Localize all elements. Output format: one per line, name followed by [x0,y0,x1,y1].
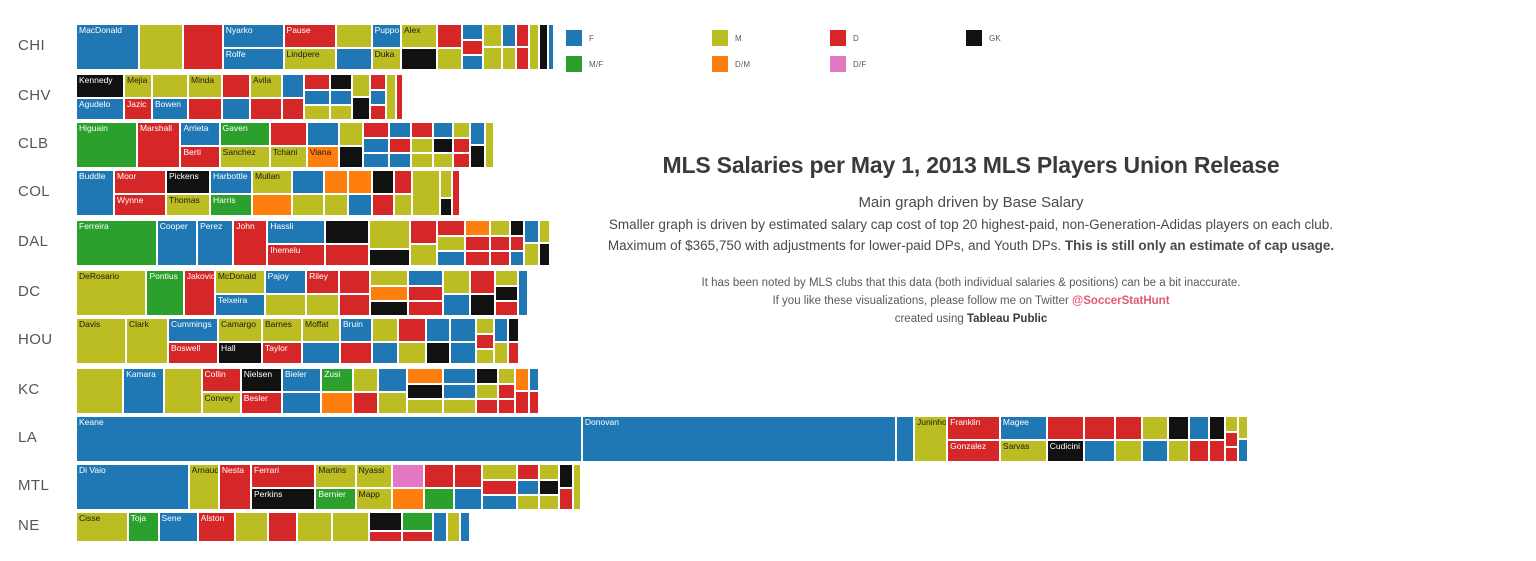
player-cell[interactable] [353,368,379,392]
player-cell[interactable] [1168,416,1189,440]
player-cell[interactable] [517,464,539,480]
player-cell[interactable] [494,342,508,364]
player-cell[interactable] [183,24,223,70]
player-cell[interactable] [411,153,433,168]
player-cell-rolfe[interactable]: Rolfe [223,48,284,70]
player-cell-gaven[interactable]: Gaven [220,122,270,146]
player-cell[interactable] [411,122,433,138]
player-cell[interactable] [336,24,372,48]
player-cell[interactable] [411,138,433,153]
player-cell-sanchez[interactable]: Sanchez [220,146,270,168]
player-cell[interactable] [330,90,352,105]
player-cell[interactable] [1209,440,1225,462]
player-cell[interactable] [454,488,482,510]
player-cell[interactable] [470,294,495,316]
player-cell[interactable] [508,318,519,342]
player-cell-juninho[interactable]: Juninho [914,416,947,462]
player-cell[interactable] [470,270,495,294]
player-cell[interactable] [529,368,539,391]
player-cell[interactable] [433,153,453,168]
player-cell[interactable] [339,294,370,316]
player-cell-viana[interactable]: Viana [307,146,340,168]
player-cell[interactable] [363,122,389,138]
legend-item-f[interactable]: F [566,27,696,49]
player-cell-mullan[interactable]: Mullan [252,170,292,194]
player-cell[interactable] [524,243,539,266]
player-cell-sarvas[interactable]: Sarvas [1000,440,1047,462]
player-cell[interactable] [485,122,494,168]
player-cell[interactable] [510,220,525,236]
player-cell-avila[interactable]: Avila [250,74,282,98]
player-cell[interactable] [476,318,494,334]
player-cell[interactable] [517,480,539,495]
player-cell[interactable] [407,399,442,414]
player-cell[interactable] [465,236,491,251]
player-cell[interactable] [494,318,508,342]
player-cell-berti[interactable]: Berti [180,146,219,168]
player-cell-cummings[interactable]: Cummings [168,318,218,342]
player-cell[interactable] [424,464,454,488]
player-cell[interactable] [370,301,407,316]
player-cell[interactable] [1189,440,1209,462]
player-cell-arnaud[interactable]: Arnaud [189,464,219,510]
player-cell-nyarko[interactable]: Nyarko [223,24,284,48]
player-cell-harris[interactable]: Harris [210,194,252,216]
player-cell[interactable] [1168,440,1189,462]
player-cell[interactable] [508,342,519,364]
player-cell[interactable] [188,98,222,120]
player-cell[interactable] [372,318,398,342]
player-cell-bernier[interactable]: Bernier [315,488,355,510]
player-cell[interactable] [1115,440,1142,462]
player-cell-perkins[interactable]: Perkins [251,488,315,510]
player-cell[interactable] [339,122,363,146]
player-cell-di-vaio[interactable]: Di Vaio [76,464,189,510]
player-cell-sene[interactable]: Sene [159,512,198,542]
player-cell-kennedy[interactable]: Kennedy [76,74,124,98]
player-cell[interactable] [490,236,509,251]
player-cell[interactable] [332,512,369,542]
player-cell[interactable] [539,495,559,510]
player-cell[interactable] [433,512,447,542]
player-cell-tchani[interactable]: Tchani [270,146,307,168]
player-cell[interactable] [510,236,525,251]
player-cell[interactable] [490,220,509,236]
player-cell[interactable] [340,342,372,364]
player-cell[interactable] [510,251,525,266]
twitter-handle-link[interactable]: @SoccerStatHunt [1072,295,1169,307]
player-cell[interactable] [524,220,539,243]
player-cell[interactable] [324,194,348,216]
player-cell[interactable] [443,384,476,399]
player-cell[interactable] [369,220,409,249]
player-cell-donovan[interactable]: Donovan [582,416,896,462]
player-cell[interactable] [482,464,516,480]
player-cell-arrieta[interactable]: Arrieta [180,122,219,146]
player-cell[interactable] [454,464,482,488]
player-cell[interactable] [394,194,412,216]
player-cell-mejia[interactable]: Mejia [124,74,152,98]
player-cell[interactable] [465,251,491,266]
player-cell[interactable] [433,122,453,138]
player-cell[interactable] [516,47,529,70]
player-cell[interactable] [297,512,332,542]
player-cell[interactable] [495,270,518,286]
player-cell-cooper[interactable]: Cooper [157,220,197,266]
player-cell[interactable] [325,244,370,266]
player-cell[interactable] [292,194,324,216]
player-cell[interactable] [407,368,442,384]
player-cell[interactable] [306,294,339,316]
player-cell[interactable] [353,392,379,414]
player-cell[interactable] [370,270,407,286]
player-cell[interactable] [348,194,372,216]
player-cell-ihemelu[interactable]: Ihemelu [267,244,324,266]
player-cell[interactable] [437,236,465,251]
player-cell[interactable] [235,512,268,542]
player-cell[interactable] [452,170,460,216]
player-cell[interactable] [517,495,539,510]
player-cell[interactable] [402,531,433,542]
player-cell[interactable] [252,194,292,216]
player-cell-nyassi[interactable]: Nyassi [356,464,392,488]
player-cell-alston[interactable]: Alston [198,512,235,542]
player-cell-mapp[interactable]: Mapp [356,488,392,510]
player-cell[interactable] [307,122,340,146]
player-cell[interactable] [398,342,426,364]
player-cell[interactable] [348,170,372,194]
player-cell[interactable] [443,368,476,384]
player-cell[interactable] [222,74,250,98]
player-cell-lindpere[interactable]: Lindpere [284,48,336,70]
player-cell[interactable] [450,342,476,364]
player-cell-marshall[interactable]: Marshall [137,122,181,168]
player-cell[interactable] [389,122,411,138]
player-cell-boswell[interactable]: Boswell [168,342,218,364]
player-cell[interactable] [330,105,352,120]
player-cell[interactable] [462,24,483,40]
player-cell[interactable] [1115,416,1142,440]
player-cell[interactable] [447,512,459,542]
player-cell[interactable] [152,74,188,98]
player-cell[interactable] [424,488,454,510]
player-cell[interactable] [304,105,330,120]
player-cell[interactable] [378,392,407,414]
player-cell-macdonald[interactable]: MacDonald [76,24,139,70]
player-cell[interactable] [426,318,450,342]
player-cell[interactable] [408,270,443,286]
player-cell[interactable] [437,24,462,48]
legend-item-d-m[interactable]: D/M [712,53,842,75]
player-cell[interactable] [402,512,433,531]
player-cell[interactable] [539,220,550,243]
player-cell-kamara[interactable]: Kamara [123,368,164,414]
player-cell[interactable] [330,74,352,90]
player-group [485,122,494,168]
player-cell[interactable] [462,40,483,55]
player-cell-martins[interactable]: Martins [315,464,355,488]
player-cell-bowen[interactable]: Bowen [152,98,188,120]
player-cell[interactable] [539,243,550,266]
player-cell[interactable] [529,24,539,70]
player-cell[interactable] [437,48,462,70]
player-cell[interactable] [76,368,123,414]
player-cell[interactable] [443,399,476,414]
player-cell[interactable] [325,220,370,244]
player-cell[interactable] [502,47,517,70]
player-cell[interactable] [396,74,403,120]
player-cell[interactable] [559,488,573,510]
player-cell[interactable] [460,512,470,542]
player-cell[interactable] [462,55,483,70]
player-cell-minda[interactable]: Minda [188,74,222,98]
player-cell[interactable] [559,464,573,488]
player-cell-collin[interactable]: Collin [202,368,241,392]
team-row-mtl: Di VaioArnaudNestaFerrariPerkinsMartinsB… [76,464,581,510]
player-cell-magee[interactable]: Magee [1000,416,1047,440]
player-cell[interactable] [372,194,394,216]
player-cell[interactable] [398,318,426,342]
player-cell[interactable] [1189,416,1209,440]
player-cell[interactable] [268,512,297,542]
player-cell-moor[interactable]: Moor [114,170,166,194]
player-cell[interactable] [453,122,470,138]
player-cell[interactable] [539,480,559,495]
player-cell-thomas[interactable]: Thomas [166,194,210,216]
player-cell[interactable] [470,122,485,145]
player-cell-agudelo[interactable]: Agudelo [76,98,124,120]
player-cell[interactable] [392,464,424,488]
player-cell[interactable] [437,220,465,236]
player-cell-pajoy[interactable]: Pajoy [265,270,306,294]
legend-item-m[interactable]: M [712,27,842,49]
player-cell[interactable] [443,294,470,316]
player-cell[interactable] [1142,416,1167,440]
player-cell-harbottle[interactable]: Harbottle [210,170,252,194]
player-cell[interactable] [1225,447,1239,462]
player-cell-zusi[interactable]: Zusi [321,368,352,392]
player-cell-taylor[interactable]: Taylor [262,342,302,364]
player-cell[interactable] [529,391,539,414]
player-cell[interactable] [495,286,518,301]
player-cell-camargo[interactable]: Camargo [218,318,262,342]
player-cell[interactable] [363,138,389,153]
player-cell[interactable] [476,349,494,364]
player-cell-toja[interactable]: Toja [128,512,159,542]
player-cell[interactable] [518,270,528,316]
player-cell[interactable] [363,153,389,168]
player-cell[interactable] [304,90,330,105]
player-cell[interactable] [482,495,516,510]
player-cell[interactable] [392,488,424,510]
player-cell[interactable] [440,198,452,216]
player-cell[interactable] [490,251,509,266]
player-cell[interactable] [1225,432,1239,447]
player-cell[interactable] [410,244,438,266]
player-cell-convey[interactable]: Convey [202,392,241,414]
player-cell-besler[interactable]: Besler [241,392,282,414]
player-cell[interactable] [1084,416,1115,440]
player-cell-nielsen[interactable]: Nielsen [241,368,282,392]
player-cell[interactable] [1238,439,1248,462]
player-cell-teixeira[interactable]: Teixeira [215,294,265,316]
player-cell[interactable] [539,24,547,70]
player-cell[interactable] [369,249,409,266]
player-cell-pickens[interactable]: Pickens [166,170,210,194]
player-cell[interactable] [426,342,450,364]
player-cell-wynne[interactable]: Wynne [114,194,166,216]
player-cell-nesta[interactable]: Nesta [219,464,251,510]
legend-item-d[interactable]: D [830,27,960,49]
player-cell-cudicini[interactable]: Cudicini [1047,440,1084,462]
player-cell[interactable] [282,74,304,98]
player-cell[interactable] [476,334,494,349]
player-cell[interactable] [412,170,440,216]
player-cell[interactable] [573,464,581,510]
player-cell[interactable] [370,90,386,105]
player-cell[interactable] [1084,440,1115,462]
player-cell-gonzalez[interactable]: Gonzalez [947,440,1000,462]
player-cell[interactable] [498,384,516,399]
player-cell[interactable] [443,270,470,294]
player-cell-ferreira[interactable]: Ferreira [76,220,157,266]
player-cell-buddle[interactable]: Buddle [76,170,114,216]
player-cell[interactable] [336,48,372,70]
player-cell-hall[interactable]: Hall [218,342,262,364]
player-cell[interactable] [339,146,363,168]
player-cell[interactable] [453,138,470,153]
player-cell[interactable] [282,98,304,120]
player-cell[interactable] [515,391,529,414]
player-cell[interactable] [370,74,386,90]
legend-item-m-f[interactable]: M/F [566,53,696,75]
player-cell-alex[interactable]: Alex [401,24,437,48]
player-cell[interactable] [453,153,470,168]
player-cell[interactable] [515,368,529,391]
player-cell-bieler[interactable]: Bieler [282,368,321,392]
player-cell[interactable] [352,97,370,120]
player-cell[interactable] [250,98,282,120]
player-cell[interactable] [483,24,502,47]
player-name: Pause [287,25,311,36]
player-cell[interactable] [372,170,394,194]
player-cell[interactable] [339,270,370,294]
player-cell[interactable] [401,48,437,70]
player-cell-perez[interactable]: Perez [197,220,233,266]
player-cell[interactable] [450,318,476,342]
player-cell[interactable] [389,138,411,153]
player-cell[interactable] [370,286,407,301]
player-cell-barnes[interactable]: Barnes [262,318,302,342]
player-cell[interactable] [1238,416,1248,439]
player-cell-john[interactable]: John [233,220,267,266]
player-cell[interactable] [407,384,442,399]
player-cell[interactable] [369,531,402,542]
player-cell[interactable] [465,220,491,236]
player-cell[interactable] [292,170,324,194]
player-cell[interactable] [265,294,306,316]
player-cell-ferrari[interactable]: Ferrari [251,464,315,488]
player-cell-bruin[interactable]: Bruin [340,318,372,342]
player-cell[interactable] [1142,440,1167,462]
player-cell[interactable] [164,368,201,414]
player-cell[interactable] [433,138,453,153]
player-cell[interactable] [495,301,518,316]
player-cell[interactable] [394,170,412,194]
player-group: Arnaud [189,464,219,510]
player-cell-davis[interactable]: Davis [76,318,126,364]
player-cell-moffat[interactable]: Moffat [302,318,340,342]
player-cell[interactable] [482,480,516,495]
player-cell[interactable] [516,24,529,47]
legend-item-gk[interactable]: GK [966,27,1096,49]
player-cell[interactable] [437,251,465,266]
player-cell[interactable] [222,98,250,120]
player-cell[interactable] [321,392,352,414]
player-cell[interactable] [896,416,914,462]
player-cell[interactable] [408,286,443,301]
player-cell[interactable] [352,74,370,97]
player-cell[interactable] [324,170,348,194]
player-cell[interactable] [369,512,402,531]
player-cell-jakovic[interactable]: Jakovic [184,270,215,316]
player-cell[interactable] [502,24,517,47]
player-cell-franklin[interactable]: Franklin [947,416,1000,440]
player-cell[interactable] [282,392,321,414]
player-cell[interactable] [270,122,307,146]
player-cell-cisse[interactable]: Cisse [76,512,128,542]
player-cell-puppo[interactable]: Puppo [372,24,401,48]
player-cell[interactable] [548,24,554,70]
player-cell[interactable] [498,368,516,384]
player-cell[interactable] [386,74,396,120]
player-cell[interactable] [410,220,438,244]
player-cell[interactable] [476,399,498,414]
player-cell-jazic[interactable]: Jazic [124,98,152,120]
player-cell[interactable] [389,153,411,168]
player-cell[interactable] [1047,416,1084,440]
player-cell[interactable] [302,342,340,364]
player-cell[interactable] [1209,416,1225,440]
player-cell[interactable] [470,145,485,168]
player-cell-hassli[interactable]: Hassli [267,220,324,244]
player-cell[interactable] [476,368,498,384]
player-cell[interactable] [476,384,498,399]
player-cell-clark[interactable]: Clark [126,318,168,364]
player-cell-higuain[interactable]: Higuain [76,122,137,168]
player-cell-derosario[interactable]: DeRosario [76,270,146,316]
player-cell[interactable] [304,74,330,90]
player-cell-pontius[interactable]: Pontius [146,270,183,316]
player-cell-mcdonald[interactable]: McDonald [215,270,265,294]
player-cell[interactable] [378,368,407,392]
player-cell-riley[interactable]: Riley [306,270,339,294]
player-cell[interactable] [139,24,183,70]
legend-item-d-f[interactable]: D/F [830,53,960,75]
player-cell-pause[interactable]: Pause [284,24,336,48]
player-cell[interactable] [408,301,443,316]
player-cell[interactable] [539,464,559,480]
player-cell[interactable] [498,399,516,414]
player-cell[interactable] [372,342,398,364]
player-cell-duka[interactable]: Duka [372,48,401,70]
player-cell[interactable] [370,105,386,120]
player-cell-keane[interactable]: Keane [76,416,582,462]
player-cell[interactable] [483,47,502,70]
player-group: MartinsBernier [315,464,355,510]
player-cell[interactable] [440,170,452,198]
player-cell[interactable] [1225,416,1239,432]
